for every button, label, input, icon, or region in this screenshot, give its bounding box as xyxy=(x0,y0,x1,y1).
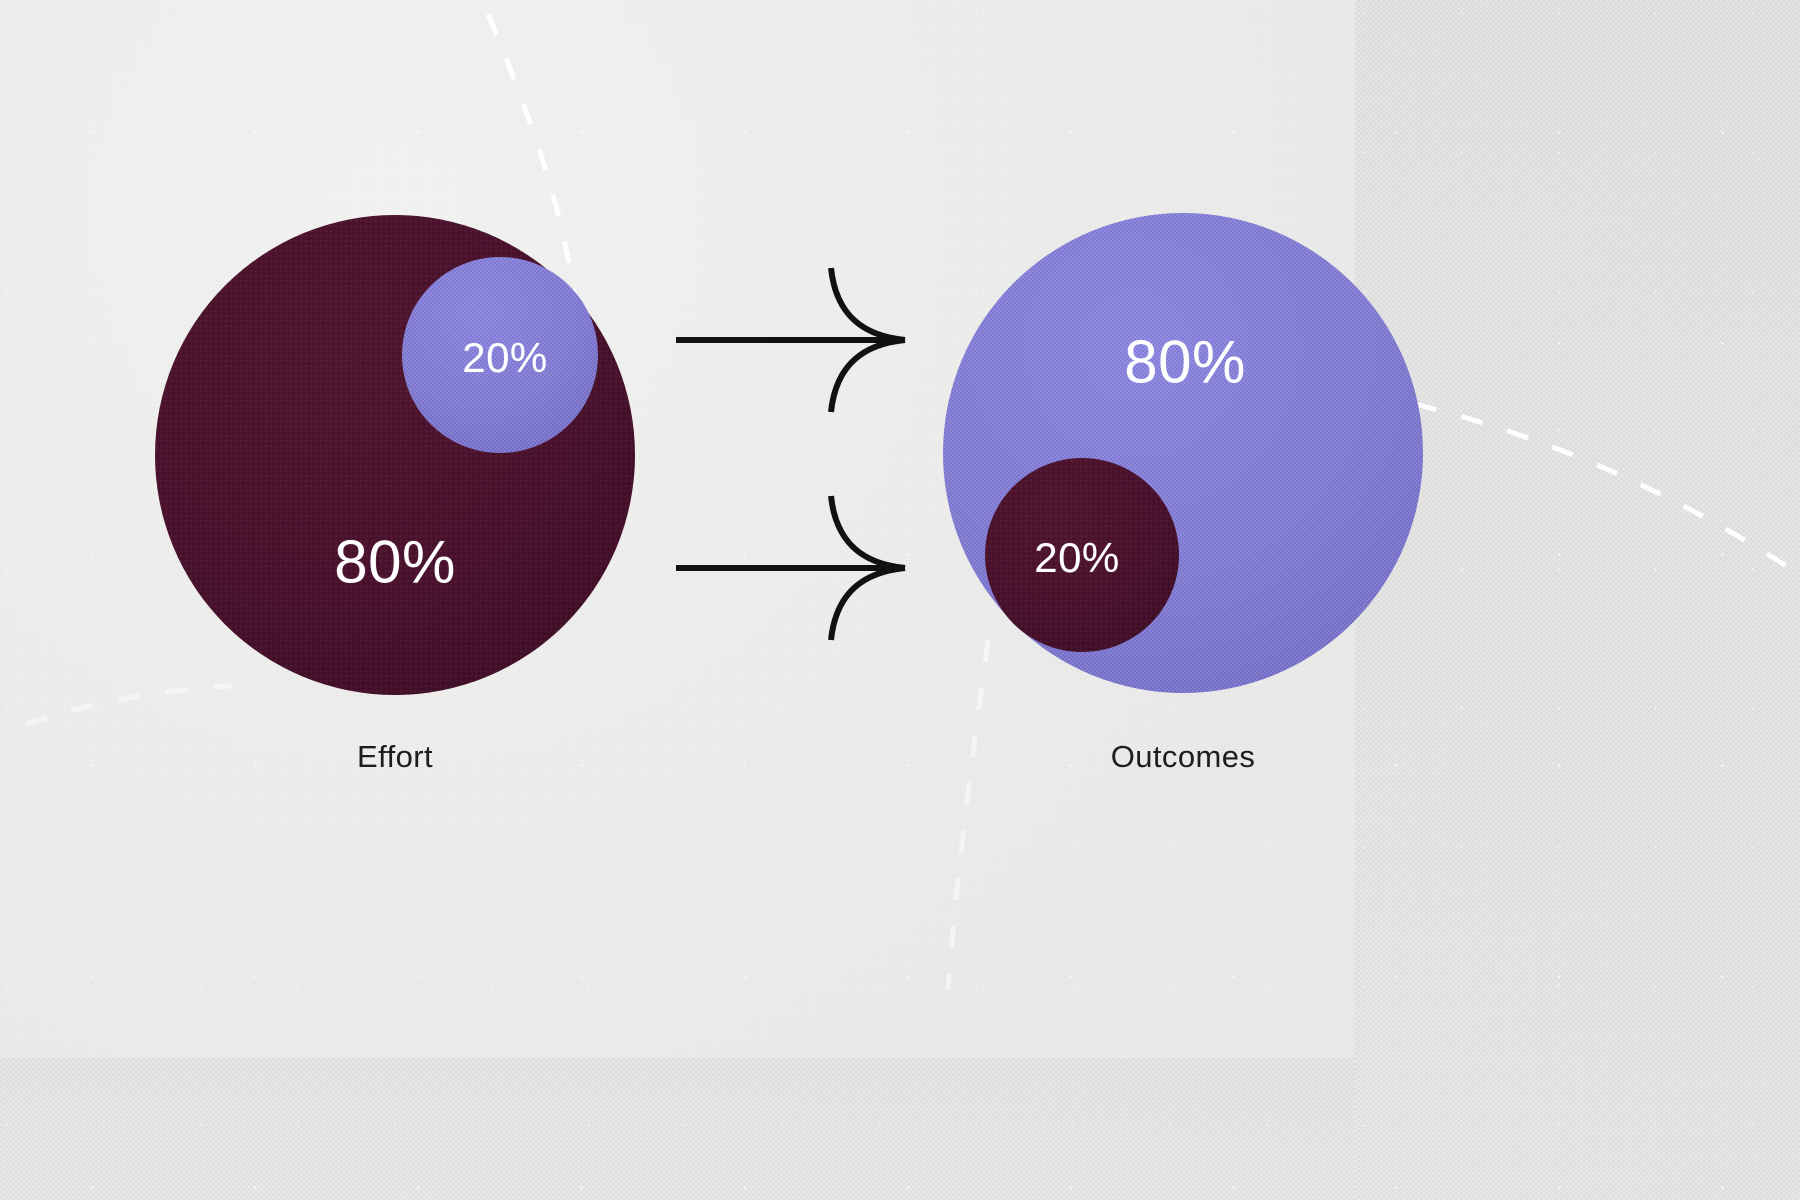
effort-minor-value: 20% xyxy=(462,334,548,382)
outcomes-minor-value: 20% xyxy=(1034,534,1120,582)
arrow-top-barb-lower xyxy=(831,340,905,412)
effort-major-value: 80% xyxy=(334,528,456,597)
effort-caption: Effort xyxy=(357,739,433,775)
connector-arrows xyxy=(676,268,905,640)
outcomes-diagram[interactable] xyxy=(943,213,1423,693)
arrow-bottom-barb-lower xyxy=(831,568,905,640)
arrow-bottom xyxy=(676,496,905,640)
dashed-arc-right xyxy=(1415,404,1800,585)
infographic-canvas: 80% 20% 80% 20% Effort Outcomes xyxy=(0,0,1800,1200)
arrow-top-barb-upper xyxy=(831,268,905,340)
outcomes-major-value: 80% xyxy=(1124,328,1246,397)
arrow-bottom-barb-upper xyxy=(831,496,905,568)
outcomes-caption: Outcomes xyxy=(1111,739,1255,775)
dashed-arc-center-bottom xyxy=(948,640,988,990)
diagram-vector-layer xyxy=(0,0,1800,1200)
effort-diagram[interactable] xyxy=(155,215,635,695)
arrow-top xyxy=(676,268,905,412)
dashed-arc-left xyxy=(0,686,232,740)
